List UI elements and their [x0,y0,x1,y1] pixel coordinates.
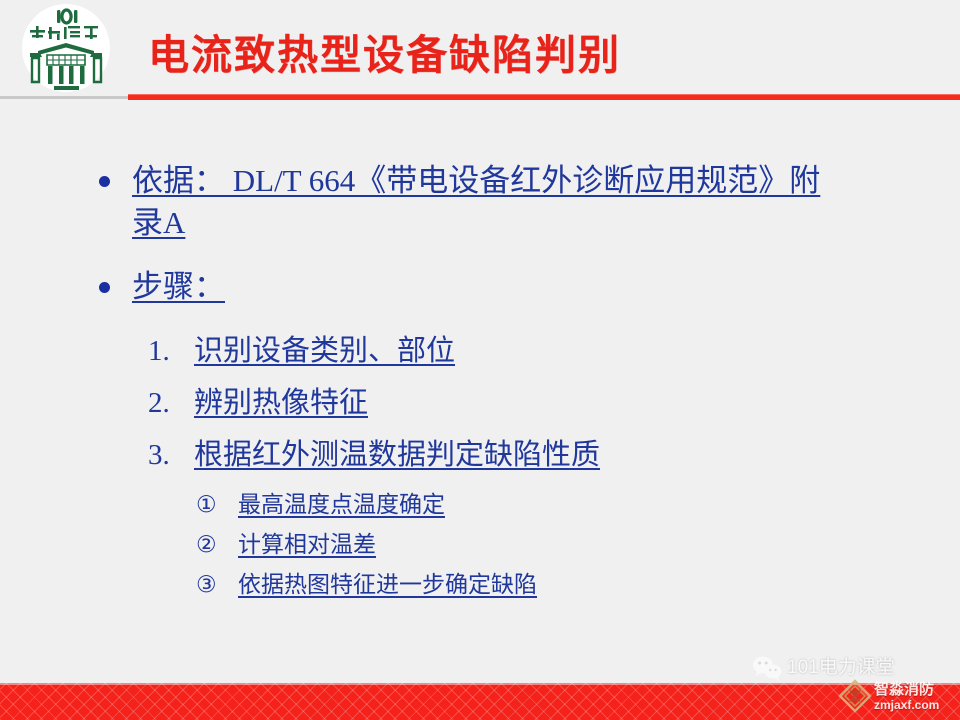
header-divider [0,94,960,101]
list-item: ② 计算相对温差 [0,526,960,564]
divider-grey-segment [0,96,130,99]
substep-text: 依据热图特征进一步确定缺陷 [238,566,537,603]
substep-number: ② [196,527,238,564]
slide-content: 依据： DL/T 664《带电设备红外诊断应用规范》附录A 步骤： 1. 识别设… [0,160,960,604]
list-item: 2. 辨别热像特征 [0,380,960,426]
slide-canvas: 电流致热型设备缺陷判别 依据： DL/T 664《带电设备红外诊断应用规范》附录… [0,0,960,720]
wechat-watermark: 101电力课堂 [752,655,895,681]
step-text: 根据红外测温数据判定缺陷性质 [194,432,600,478]
slide-header: 电流致热型设备缺陷判别 [0,0,960,104]
step-text: 识别设备类别、部位 [194,328,455,374]
bullet-text-basis: 依据： DL/T 664《带电设备红外诊断应用规范》附录A [132,160,822,244]
bullet-dot-icon [99,176,110,187]
bullet-dot-icon [99,282,110,293]
substep-number: ① [196,487,238,524]
list-item: ① 最高温度点温度确定 [0,486,960,524]
step-number: 3. [148,432,194,478]
list-item: 1. 识别设备类别、部位 [0,328,960,374]
wechat-icon [752,655,782,681]
list-item: 3. 根据红外测温数据判定缺陷性质 [0,432,960,478]
wechat-watermark-label: 101电力课堂 [787,655,895,681]
list-item: ③ 依据热图特征进一步确定缺陷 [0,566,960,604]
substep-text: 最高温度点温度确定 [238,486,445,523]
institution-logo [14,2,118,94]
bullet-item: 依据： DL/T 664《带电设备红外诊断应用规范》附录A [0,160,960,244]
bullet-item: 步骤： [0,266,960,308]
bottom-decorative-band [0,683,960,720]
divider-red-segment [128,94,960,100]
substep-text: 计算相对温差 [238,526,376,563]
bullet-text-steps: 步骤： [132,266,225,308]
band-highlight-line [0,683,960,685]
substep-number: ③ [196,567,238,604]
step-number: 2. [148,380,194,426]
page-title: 电流致热型设备缺陷判别 [148,30,938,81]
step-text: 辨别热像特征 [194,380,368,426]
step-number: 1. [148,328,194,374]
logo-emblem-icon [14,2,118,94]
